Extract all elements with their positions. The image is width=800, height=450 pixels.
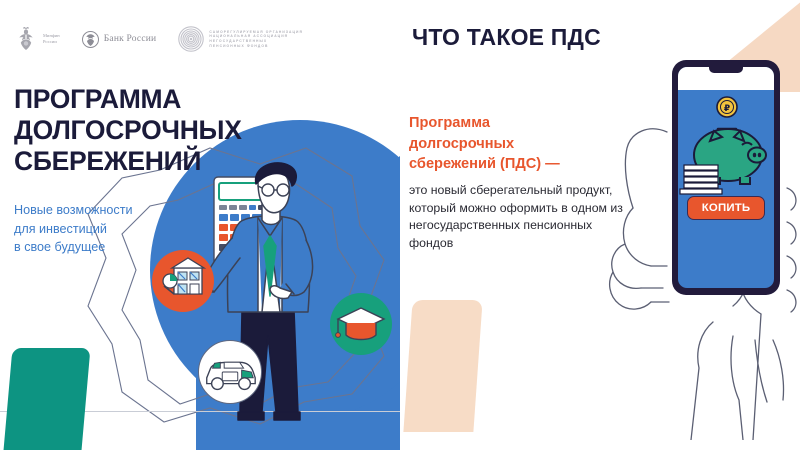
minfin-line-2: России: [43, 39, 60, 45]
right-panel-heading: ЧТО ТАКОЕ ПДС: [412, 24, 601, 51]
logo-row: Минфин России Банк России: [14, 26, 303, 52]
ruble-symbol: ₽: [724, 104, 730, 114]
badge-car: [198, 340, 262, 404]
bank-rossii-logo-text: Банк России: [104, 34, 157, 44]
subtitle-line-2: для инвестиций: [14, 220, 133, 239]
badge-house: [152, 250, 214, 312]
title-line-3: СБЕРЕЖЕНИЙ: [14, 146, 242, 177]
sro-napf-logo-text: САМОРЕГУЛИРУЕМАЯ ОРГАНИЗАЦИЯ НАЦИОНАЛЬНА…: [209, 30, 303, 48]
sro-napf-logo: САМОРЕГУЛИРУЕМАЯ ОРГАНИЗАЦИЯ НАЦИОНАЛЬНА…: [178, 26, 303, 52]
bank-rossii-logo: Банк России: [82, 31, 157, 48]
smartphone-mockup: ₽: [672, 60, 780, 295]
title-line-2: ДОЛГОСРОЧНЫХ: [14, 115, 242, 146]
double-eagle-icon: [14, 26, 38, 52]
bank-eagle-circle-icon: [82, 31, 99, 48]
phone-screen: ₽: [678, 67, 774, 288]
sro-line-4: ПЕНСИОННЫХ ФОНДОВ: [209, 44, 303, 49]
subtitle-line-3: в свое будущее: [14, 238, 133, 257]
minfin-logo-text: Минфин России: [43, 33, 60, 45]
concentric-rings-icon: [178, 26, 204, 52]
phone-notch: [709, 67, 743, 73]
title-line-1: ПРОГРАММА: [14, 84, 242, 115]
minfin-logo: Минфин России: [14, 26, 60, 52]
slide-canvas: Минфин России Банк России: [0, 0, 800, 450]
car-icon: [199, 341, 261, 403]
banknote-stack: [680, 165, 722, 194]
save-button[interactable]: КОПИТЬ: [687, 196, 765, 220]
peach-block-shape: [403, 300, 482, 432]
graduation-cap-icon: [330, 293, 392, 355]
right-panel: ЧТО ТАКОЕ ПДС Программа долгосрочных сбе…: [400, 0, 800, 450]
green-corner-block: [4, 348, 91, 450]
subtitle-line-1: Новые возможности: [14, 201, 133, 220]
left-panel-subtitle: Новые возможности для инвестиций в свое …: [14, 201, 133, 257]
house-icon: [152, 250, 214, 312]
right-panel-body: это новый сберегательный продукт, которы…: [409, 182, 633, 252]
left-panel: Минфин России Банк России: [0, 0, 400, 450]
badge-education: [330, 293, 392, 355]
left-panel-title: ПРОГРАММА ДОЛГОСРОЧНЫХ СБЕРЕЖЕНИЙ: [14, 84, 242, 177]
